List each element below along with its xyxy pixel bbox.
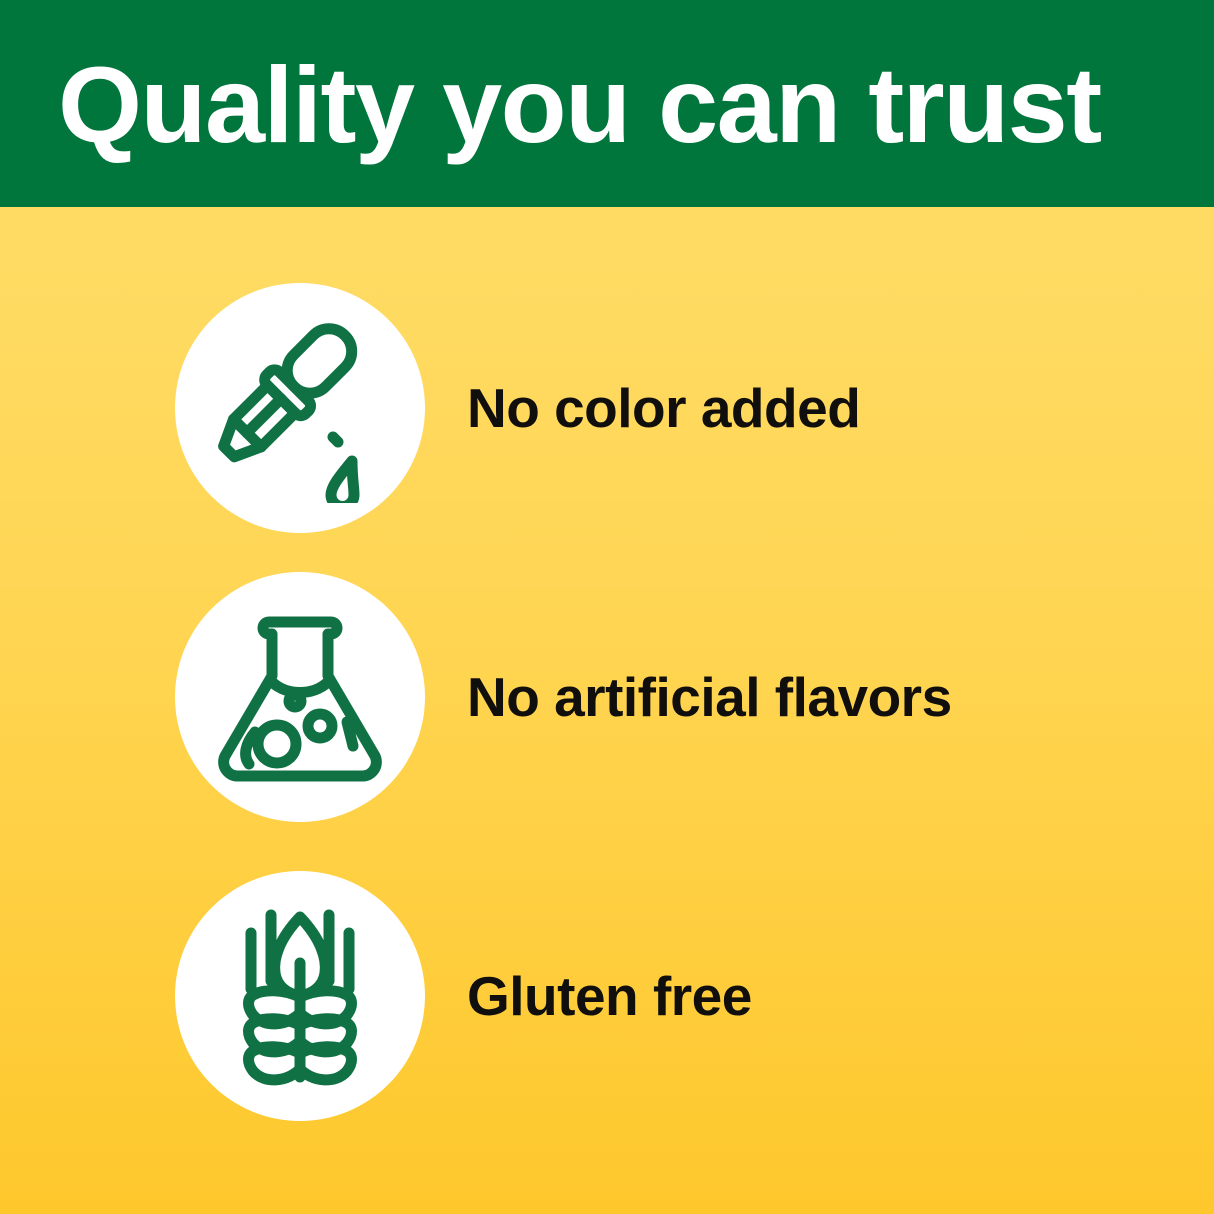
feature-badge bbox=[175, 871, 425, 1121]
feature-badge bbox=[175, 572, 425, 822]
wheat-icon bbox=[205, 901, 395, 1091]
feature-label: Gluten free bbox=[467, 871, 752, 1121]
page-title: Quality you can trust bbox=[58, 45, 1188, 165]
feature-row: No artificial flavors bbox=[0, 572, 1214, 822]
feature-label: No artificial flavors bbox=[467, 572, 952, 822]
header-band: Quality you can trust bbox=[0, 0, 1214, 207]
dropper-icon bbox=[205, 313, 395, 503]
feature-row: Gluten free bbox=[0, 871, 1214, 1121]
flask-icon bbox=[207, 604, 393, 790]
quality-promo-card: Quality you can trust bbox=[0, 0, 1214, 1214]
feature-badge bbox=[175, 283, 425, 533]
feature-label: No color added bbox=[467, 283, 860, 533]
feature-row: No color added bbox=[0, 283, 1214, 533]
